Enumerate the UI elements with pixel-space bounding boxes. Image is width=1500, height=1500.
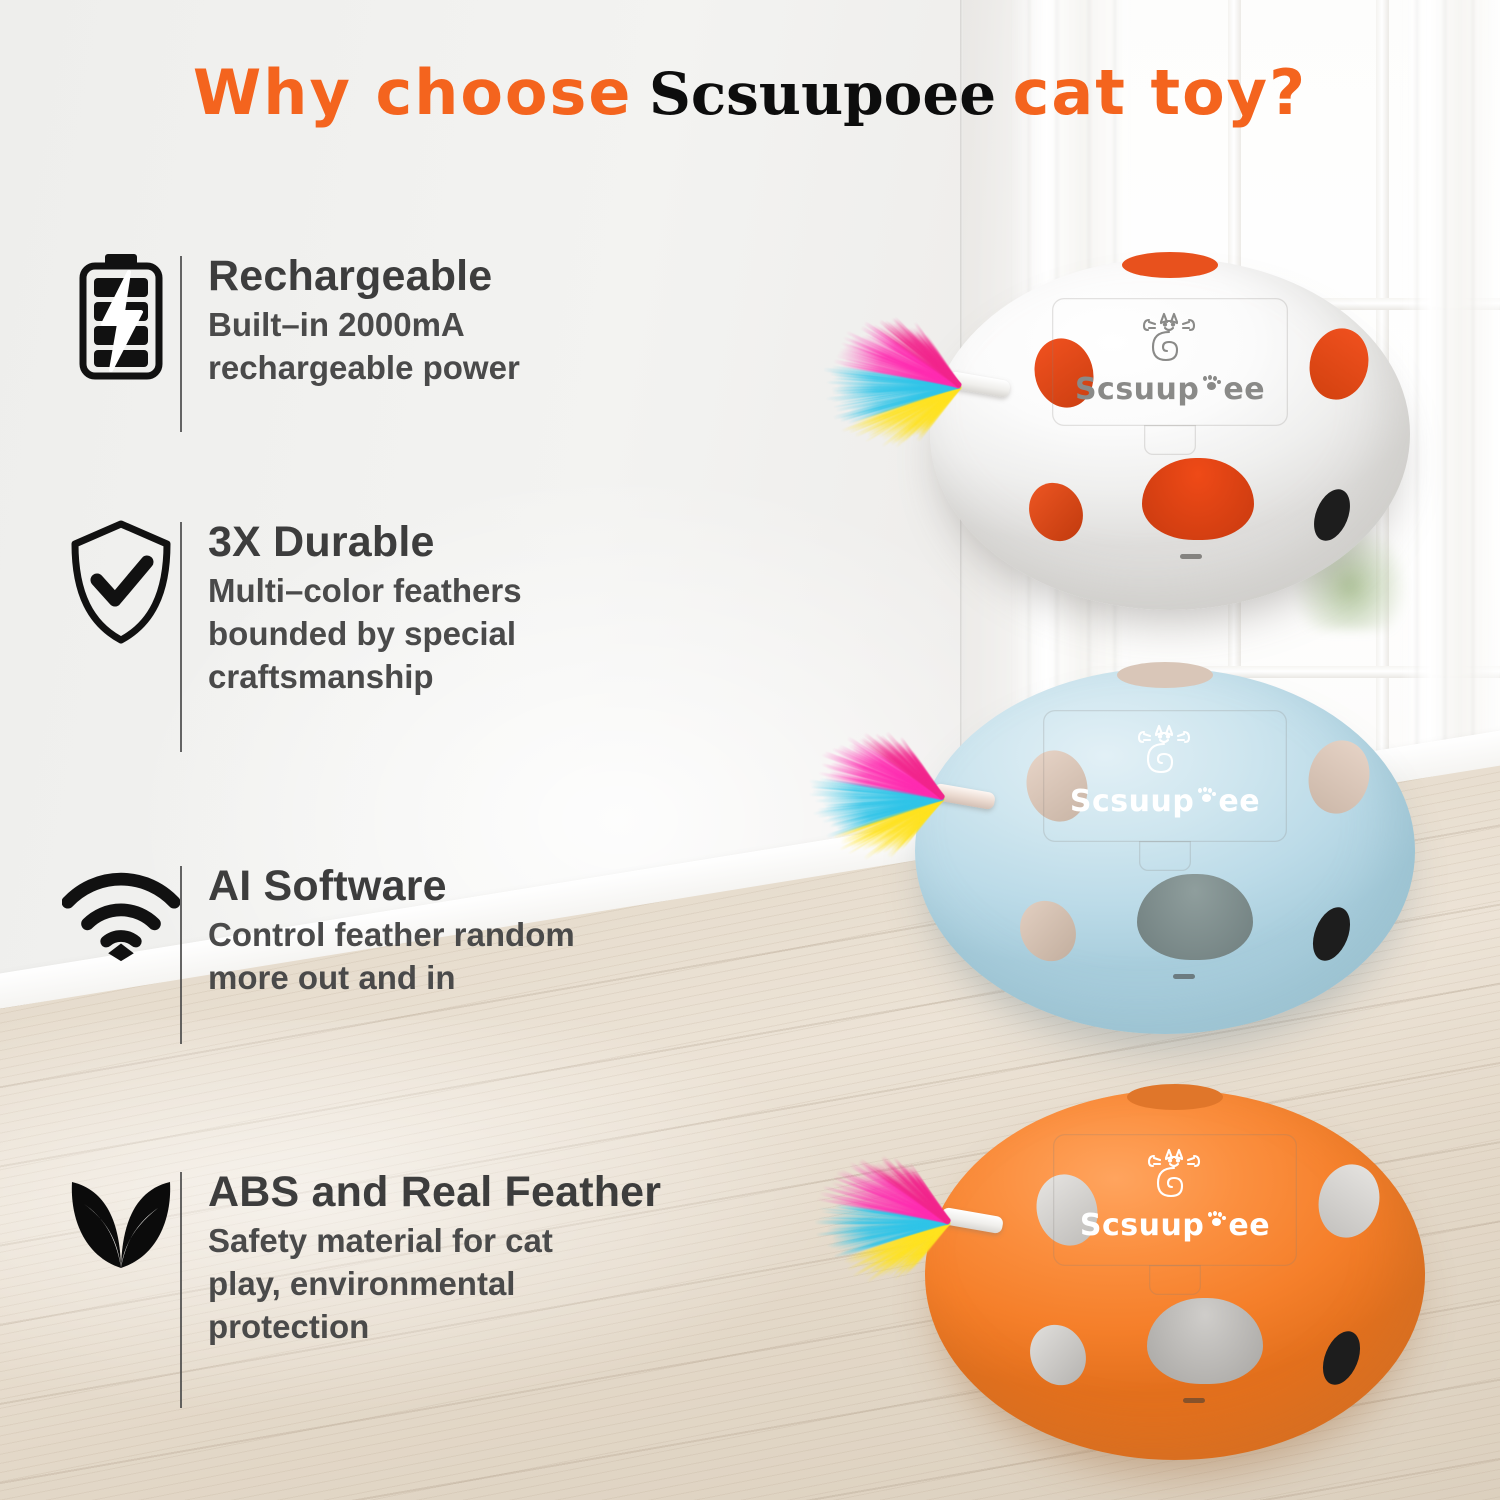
feature-desc-line: craftsmanship	[208, 656, 522, 699]
cat-toy-white: Scsuup ee	[930, 258, 1410, 610]
logo-text-post: ee	[1218, 784, 1260, 819]
top-slot	[1127, 1084, 1223, 1110]
feature-heading: ABS and Real Feather	[208, 1168, 661, 1216]
top-slot	[1122, 252, 1218, 278]
feature-divider	[180, 866, 182, 1044]
feature-desc-line: Multi–color feathers	[208, 570, 522, 613]
brand-logo-text: Scsuup ee	[1080, 1208, 1270, 1243]
page-title: Why choose Scsuupoee cat toy?	[0, 62, 1500, 124]
charging-vent	[1180, 554, 1202, 559]
feature-ai-software: AI Software Control feather random more …	[62, 862, 575, 1048]
brand-logo-text: Scsuup ee	[1075, 372, 1265, 407]
cat-toy-blue: Scsuup ee	[915, 668, 1415, 1034]
logo-plate-notch	[1149, 1265, 1201, 1295]
toy-hole	[1147, 1298, 1263, 1384]
feature-heading: Rechargeable	[208, 252, 520, 300]
feature-desc-line: play, environmental	[208, 1263, 661, 1306]
rainbow-feather	[823, 1220, 949, 1224]
logo-plate-notch	[1139, 841, 1191, 871]
feature-desc-line: bounded by special	[208, 613, 522, 656]
feature-heading: AI Software	[208, 862, 575, 910]
logo-plate-notch	[1144, 425, 1196, 455]
cat-logo-icon	[1135, 310, 1205, 372]
rainbow-feather	[815, 796, 943, 800]
feature-description: Multi–color feathers bounded by special …	[208, 570, 522, 699]
feature-desc-line: Control feather random	[208, 914, 575, 957]
feature-divider	[180, 522, 182, 752]
logo-text-post: ee	[1223, 372, 1265, 407]
cat-toy-orange: Scsuup ee	[925, 1090, 1425, 1460]
product-infographic: Why choose Scsuupoee cat toy? Rechargeab…	[0, 0, 1500, 1500]
brand-logo: Scsuup ee	[1078, 310, 1262, 407]
leaf-sprout-icon	[62, 1168, 180, 1272]
brand-logo: Scsuup ee	[1069, 722, 1261, 819]
logo-text-pre: Scsuup	[1070, 784, 1194, 819]
paw-print-icon	[1205, 1211, 1227, 1235]
title-brand-name: Scsuupoee	[637, 65, 1008, 123]
title-part-2: cat toy?	[1013, 62, 1307, 124]
charging-vent	[1173, 974, 1195, 979]
logo-text-post: ee	[1228, 1208, 1270, 1243]
feature-description: Safety material for cat play, environmen…	[208, 1220, 661, 1349]
paw-print-icon	[1195, 787, 1217, 811]
brand-logo: Scsuup ee	[1079, 1146, 1271, 1243]
cat-logo-icon	[1130, 722, 1200, 784]
top-slot	[1117, 662, 1213, 688]
feature-heading: 3X Durable	[208, 518, 522, 566]
shield-check-icon	[62, 518, 180, 646]
feature-divider	[180, 1172, 182, 1408]
feature-durable: 3X Durable Multi–color feathers bounded …	[62, 518, 522, 756]
brand-logo-text: Scsuup ee	[1070, 784, 1260, 819]
feature-desc-line: Safety material for cat	[208, 1220, 661, 1263]
feature-desc-line: protection	[208, 1306, 661, 1349]
charging-vent	[1183, 1398, 1205, 1403]
feature-description: Built–in 2000mA rechargeable power	[208, 304, 520, 390]
paw-print-icon	[1200, 375, 1222, 399]
toy-hole	[1142, 458, 1254, 540]
feature-description: Control feather random more out and in	[208, 914, 575, 1000]
rainbow-feather	[830, 384, 960, 388]
cat-logo-icon	[1140, 1146, 1210, 1208]
toy-hole	[1137, 874, 1253, 960]
logo-text-pre: Scsuup	[1080, 1208, 1204, 1243]
title-part-1: Why choose	[193, 62, 633, 124]
feature-desc-line: Built–in 2000mA	[208, 304, 520, 347]
feature-desc-line: rechargeable power	[208, 347, 520, 390]
feature-abs-real-feather: ABS and Real Feather Safety material for…	[62, 1168, 661, 1412]
battery-charging-icon	[62, 252, 180, 380]
feature-rechargeable: Rechargeable Built–in 2000mA rechargeabl…	[62, 252, 520, 436]
wifi-signal-icon	[62, 862, 180, 962]
feature-divider	[180, 256, 182, 432]
logo-text-pre: Scsuup	[1075, 372, 1199, 407]
feature-desc-line: more out and in	[208, 957, 575, 1000]
